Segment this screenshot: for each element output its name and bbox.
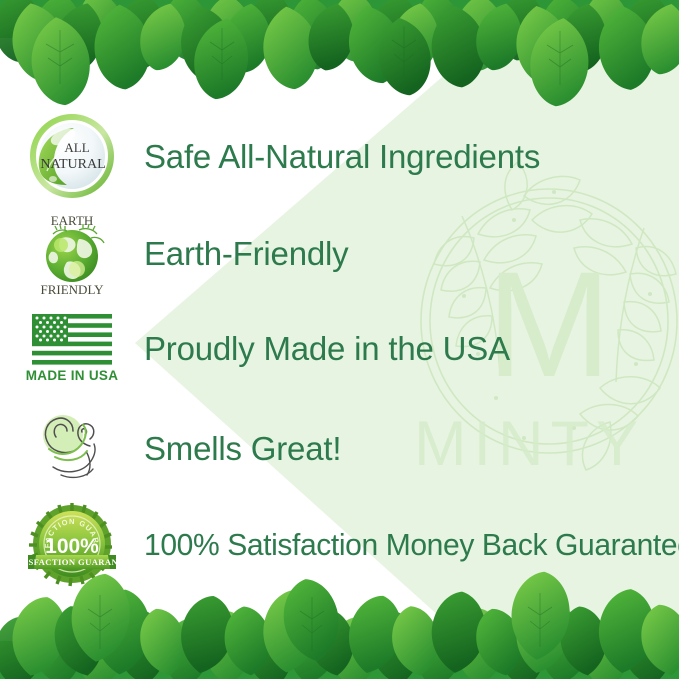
feature-label-all-natural: Safe All-Natural Ingredients bbox=[144, 140, 540, 173]
feature-row-all-natural: ALL NATURAL Safe All-Natural Ingredients bbox=[0, 108, 679, 204]
earth-friendly-bottom-text: FRIENDLY bbox=[41, 282, 105, 297]
earth-friendly-top-text: EARTH bbox=[51, 213, 94, 228]
feature-label-earth-friendly: Earth-Friendly bbox=[144, 237, 348, 270]
made-in-usa-flag-icon: MADE IN USA bbox=[0, 300, 144, 396]
satisfaction-guarantee-seal-icon: SATISFACTION GUARANTEE 100% SATISFACTION… bbox=[0, 497, 144, 593]
feature-label-guarantee: 100% Satisfaction Money Back Guarantee bbox=[144, 530, 679, 561]
earth-friendly-globe-icon: EARTH bbox=[0, 205, 144, 301]
feature-row-earth-friendly: EARTH bbox=[0, 205, 679, 301]
feature-row-made-in-usa: MADE IN USA Proudly Made in the USA bbox=[0, 300, 679, 396]
made-in-usa-caption: MADE IN USA bbox=[26, 368, 119, 383]
mint-leaves-border-bottom-icon bbox=[0, 587, 679, 679]
mint-leaves-border-top-icon bbox=[0, 0, 679, 92]
seal-percent-text: 100% bbox=[45, 535, 99, 558]
feature-label-made-in-usa: Proudly Made in the USA bbox=[144, 332, 510, 365]
promo-feature-graphic: M MINTY bbox=[0, 0, 679, 679]
all-natural-badge-icon: ALL NATURAL bbox=[0, 108, 144, 204]
smells-great-swirl-icon bbox=[0, 400, 144, 496]
all-natural-bottom-text: NATURAL bbox=[40, 157, 105, 172]
seal-ribbon-text: SATISFACTION GUARANTEE bbox=[7, 557, 136, 567]
feature-label-smells-great: Smells Great! bbox=[144, 432, 341, 465]
feature-row-smells-great: Smells Great! bbox=[0, 400, 679, 496]
all-natural-top-text: ALL bbox=[64, 140, 89, 155]
